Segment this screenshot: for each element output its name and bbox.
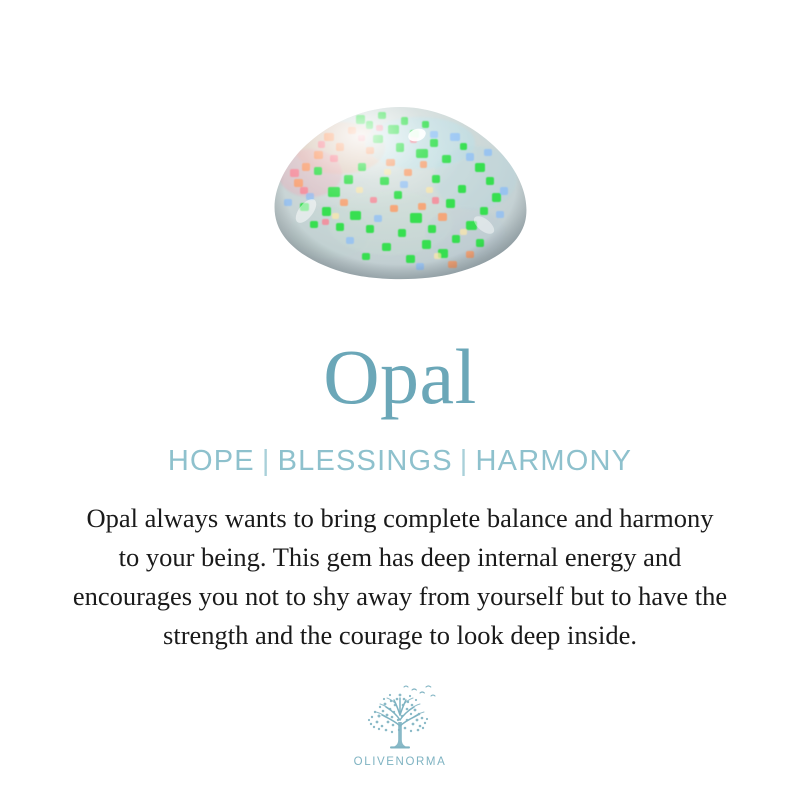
gemstone-keywords: HOPE|BLESSINGS|HARMONY: [0, 444, 800, 478]
keyword-blessings: BLESSINGS: [278, 445, 453, 477]
tree-of-life-icon: [357, 682, 443, 754]
description-line: Opal always wants to bring complete bala…: [18, 499, 782, 538]
keyword-hope: HOPE: [168, 445, 255, 477]
brand-logo: OLIVENORMA: [0, 682, 800, 768]
gemstone-info-card: Opal HOPE|BLESSINGS|HARMONY Opal always …: [0, 0, 800, 800]
opal-gem-image: [270, 103, 530, 283]
description-line: encourages you not to shy away from your…: [18, 577, 782, 616]
brand-wordmark: OLIVENORMA: [354, 756, 447, 768]
description-line: strength and the courage to look deep in…: [18, 616, 782, 655]
keyword-separator-2: |: [453, 445, 476, 477]
description-line: to your being. This gem has deep interna…: [18, 538, 782, 577]
keyword-separator-1: |: [255, 445, 278, 477]
gemstone-title: Opal: [0, 332, 800, 422]
gemstone-description: Opal always wants to bring complete bala…: [18, 499, 782, 655]
keyword-harmony: HARMONY: [476, 445, 633, 477]
